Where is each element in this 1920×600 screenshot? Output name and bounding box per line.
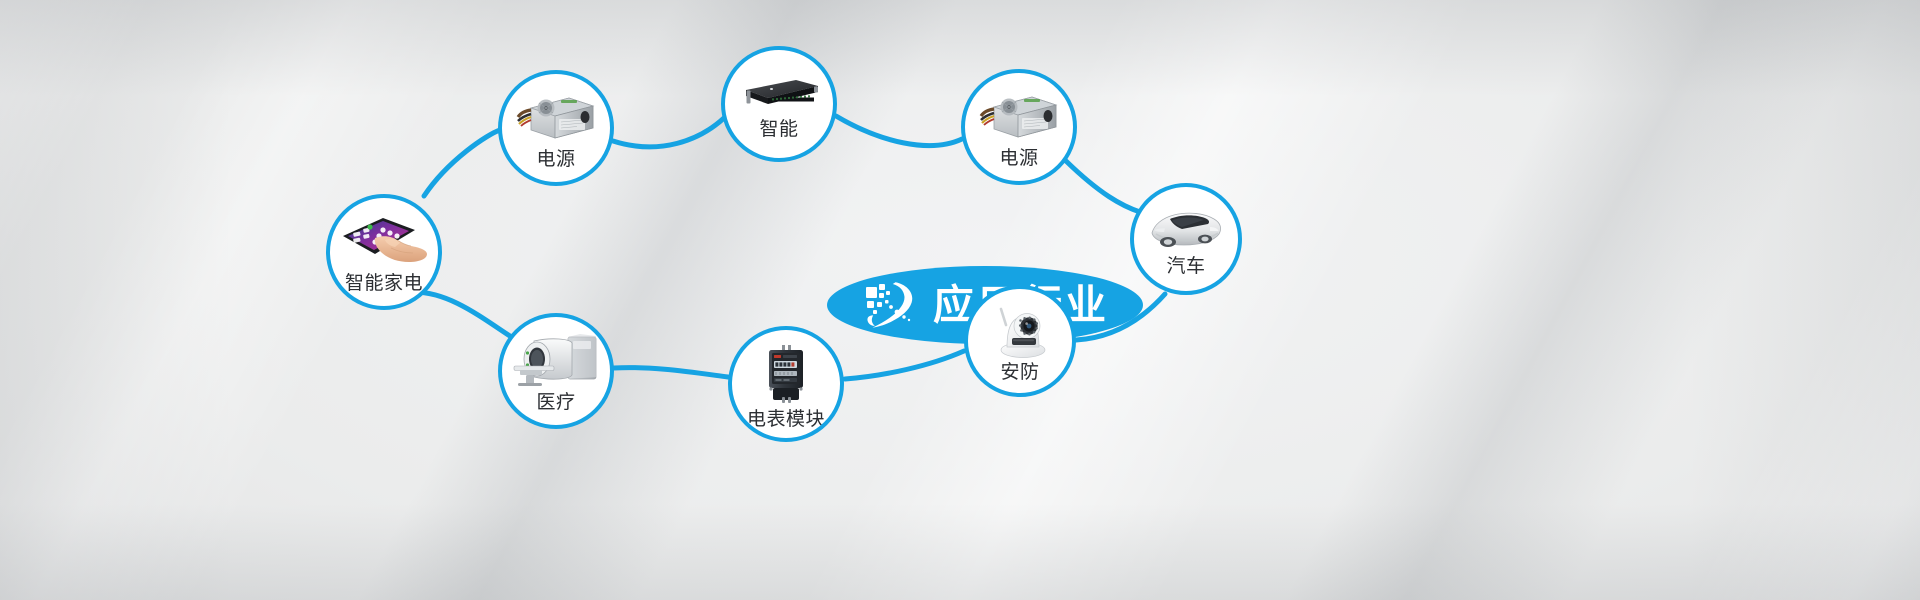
ip-camera-icon	[989, 303, 1051, 359]
application-industries-banner: 应用行业	[0, 0, 1920, 600]
node-label: 智能家电	[345, 274, 423, 293]
node-medical[interactable]: 医疗	[498, 313, 614, 429]
connector-medical-to-smart-appliance	[414, 292, 513, 338]
connector-meter-module-to-medical	[614, 368, 728, 377]
node-label: 医疗	[536, 393, 575, 412]
sports-car-icon	[1146, 203, 1226, 251]
node-label: 电表模块	[747, 410, 825, 429]
ct-scanner-icon	[512, 333, 600, 387]
node-label: 汽车	[1166, 257, 1205, 276]
electric-meter-icon	[763, 344, 809, 404]
connector-power-left-to-smart	[613, 118, 724, 147]
connector-security-to-meter-module	[845, 351, 964, 379]
connector-power-right-to-automotive	[1066, 161, 1140, 212]
node-security[interactable]: 安防	[964, 285, 1076, 397]
pixel-swoosh-orbit-icon	[861, 279, 919, 331]
node-power-right[interactable]: 电源	[961, 69, 1077, 185]
connector-smart-appliance-to-power-left	[424, 130, 500, 196]
node-label: 电源	[999, 149, 1038, 168]
node-label: 安防	[1000, 363, 1039, 382]
node-meter-module[interactable]: 电表模块	[728, 326, 844, 442]
pc-power-supply-icon	[515, 88, 597, 142]
node-automotive[interactable]: 汽车	[1130, 183, 1242, 295]
node-smart[interactable]: 智能	[721, 46, 837, 162]
rack-server-icon	[736, 76, 822, 110]
node-power-left[interactable]: 电源	[498, 70, 614, 186]
pc-power-supply-icon	[978, 87, 1060, 141]
connector-smart-to-power-right	[836, 116, 962, 146]
touch-tablet-icon	[339, 214, 429, 270]
node-smart-appliance[interactable]: 智能家电	[326, 194, 442, 310]
node-label: 智能	[759, 120, 798, 139]
node-label: 电源	[536, 150, 575, 169]
